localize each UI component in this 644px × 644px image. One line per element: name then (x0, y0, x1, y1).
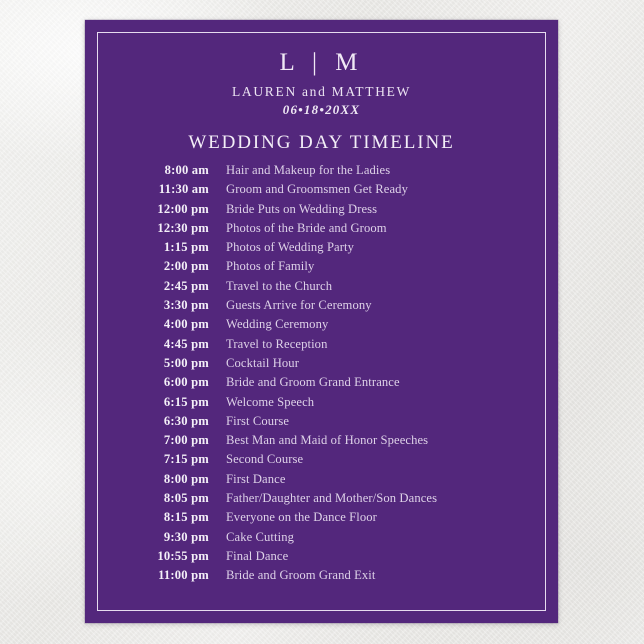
timeline-event: Cake Cutting (226, 530, 294, 545)
monogram: L | M (85, 48, 558, 78)
timeline-event: Cocktail Hour (226, 356, 299, 371)
timeline-time: 5:00 pm (85, 356, 209, 371)
timeline-row: 6:30 pmFirst Course (85, 414, 558, 433)
timeline-time: 8:00 am (85, 163, 209, 178)
timeline-list: 8:00 amHair and Makeup for the Ladies11:… (85, 163, 558, 588)
timeline-row: 1:15 pmPhotos of Wedding Party (85, 240, 558, 259)
timeline-row: 9:30 pmCake Cutting (85, 530, 558, 549)
timeline-row: 3:30 pmGuests Arrive for Ceremony (85, 298, 558, 317)
timeline-time: 4:00 pm (85, 317, 209, 332)
timeline-row: 8:15 pmEveryone on the Dance Floor (85, 510, 558, 529)
timeline-event: First Course (226, 414, 289, 429)
timeline-row: 11:00 pmBride and Groom Grand Exit (85, 568, 558, 587)
timeline-event: Travel to Reception (226, 337, 327, 352)
couple-names: LAUREN and MATTHEW (85, 83, 558, 100)
timeline-time: 11:30 am (85, 182, 209, 197)
timeline-time: 12:30 pm (85, 221, 209, 236)
timeline-time: 10:55 pm (85, 549, 209, 564)
timeline-event: Photos of Family (226, 259, 314, 274)
timeline-row: 6:00 pmBride and Groom Grand Entrance (85, 375, 558, 394)
timeline-time: 1:15 pm (85, 240, 209, 255)
timeline-time: 6:30 pm (85, 414, 209, 429)
timeline-time: 8:15 pm (85, 510, 209, 525)
timeline-time: 7:15 pm (85, 452, 209, 467)
timeline-event: Travel to the Church (226, 279, 332, 294)
timeline-event: Bride and Groom Grand Exit (226, 568, 376, 583)
timeline-time: 6:15 pm (85, 395, 209, 410)
timeline-time: 9:30 pm (85, 530, 209, 545)
timeline-event: Wedding Ceremony (226, 317, 328, 332)
timeline-time: 2:45 pm (85, 279, 209, 294)
timeline-event: Best Man and Maid of Honor Speeches (226, 433, 428, 448)
timeline-time: 6:00 pm (85, 375, 209, 390)
timeline-event: Groom and Groomsmen Get Ready (226, 182, 408, 197)
timeline-time: 8:00 pm (85, 472, 209, 487)
wedding-timeline-card: L | M LAUREN and MATTHEW 06•18•20XX WEDD… (85, 20, 558, 623)
timeline-row: 7:15 pmSecond Course (85, 452, 558, 471)
timeline-time: 7:00 pm (85, 433, 209, 448)
page-title: WEDDING DAY TIMELINE (85, 131, 558, 155)
timeline-event: Final Dance (226, 549, 288, 564)
timeline-row: 7:00 pmBest Man and Maid of Honor Speech… (85, 433, 558, 452)
timeline-row: 5:00 pmCocktail Hour (85, 356, 558, 375)
timeline-row: 2:45 pmTravel to the Church (85, 279, 558, 298)
timeline-time: 11:00 pm (85, 568, 209, 583)
timeline-row: 12:00 pmBride Puts on Wedding Dress (85, 202, 558, 221)
timeline-row: 4:45 pmTravel to Reception (85, 337, 558, 356)
timeline-event: First Dance (226, 472, 286, 487)
timeline-event: Second Course (226, 452, 303, 467)
timeline-row: 11:30 amGroom and Groomsmen Get Ready (85, 182, 558, 201)
timeline-event: Bride Puts on Wedding Dress (226, 202, 377, 217)
timeline-row: 8:00 amHair and Makeup for the Ladies (85, 163, 558, 182)
timeline-row: 4:00 pmWedding Ceremony (85, 317, 558, 336)
timeline-event: Photos of Wedding Party (226, 240, 354, 255)
timeline-row: 8:05 pmFather/Daughter and Mother/Son Da… (85, 491, 558, 510)
timeline-event: Bride and Groom Grand Entrance (226, 375, 400, 390)
timeline-event: Photos of the Bride and Groom (226, 221, 387, 236)
timeline-time: 3:30 pm (85, 298, 209, 313)
timeline-row: 8:00 pmFirst Dance (85, 472, 558, 491)
timeline-time: 2:00 pm (85, 259, 209, 274)
timeline-event: Welcome Speech (226, 395, 314, 410)
timeline-row: 6:15 pmWelcome Speech (85, 395, 558, 414)
timeline-event: Everyone on the Dance Floor (226, 510, 377, 525)
timeline-event: Guests Arrive for Ceremony (226, 298, 372, 313)
timeline-event: Hair and Makeup for the Ladies (226, 163, 390, 178)
timeline-row: 2:00 pmPhotos of Family (85, 259, 558, 278)
timeline-time: 8:05 pm (85, 491, 209, 506)
timeline-row: 10:55 pmFinal Dance (85, 549, 558, 568)
card-content: L | M LAUREN and MATTHEW 06•18•20XX WEDD… (85, 20, 558, 623)
wedding-date: 06•18•20XX (85, 101, 558, 119)
timeline-time: 12:00 pm (85, 202, 209, 217)
timeline-time: 4:45 pm (85, 337, 209, 352)
timeline-event: Father/Daughter and Mother/Son Dances (226, 491, 437, 506)
timeline-row: 12:30 pmPhotos of the Bride and Groom (85, 221, 558, 240)
